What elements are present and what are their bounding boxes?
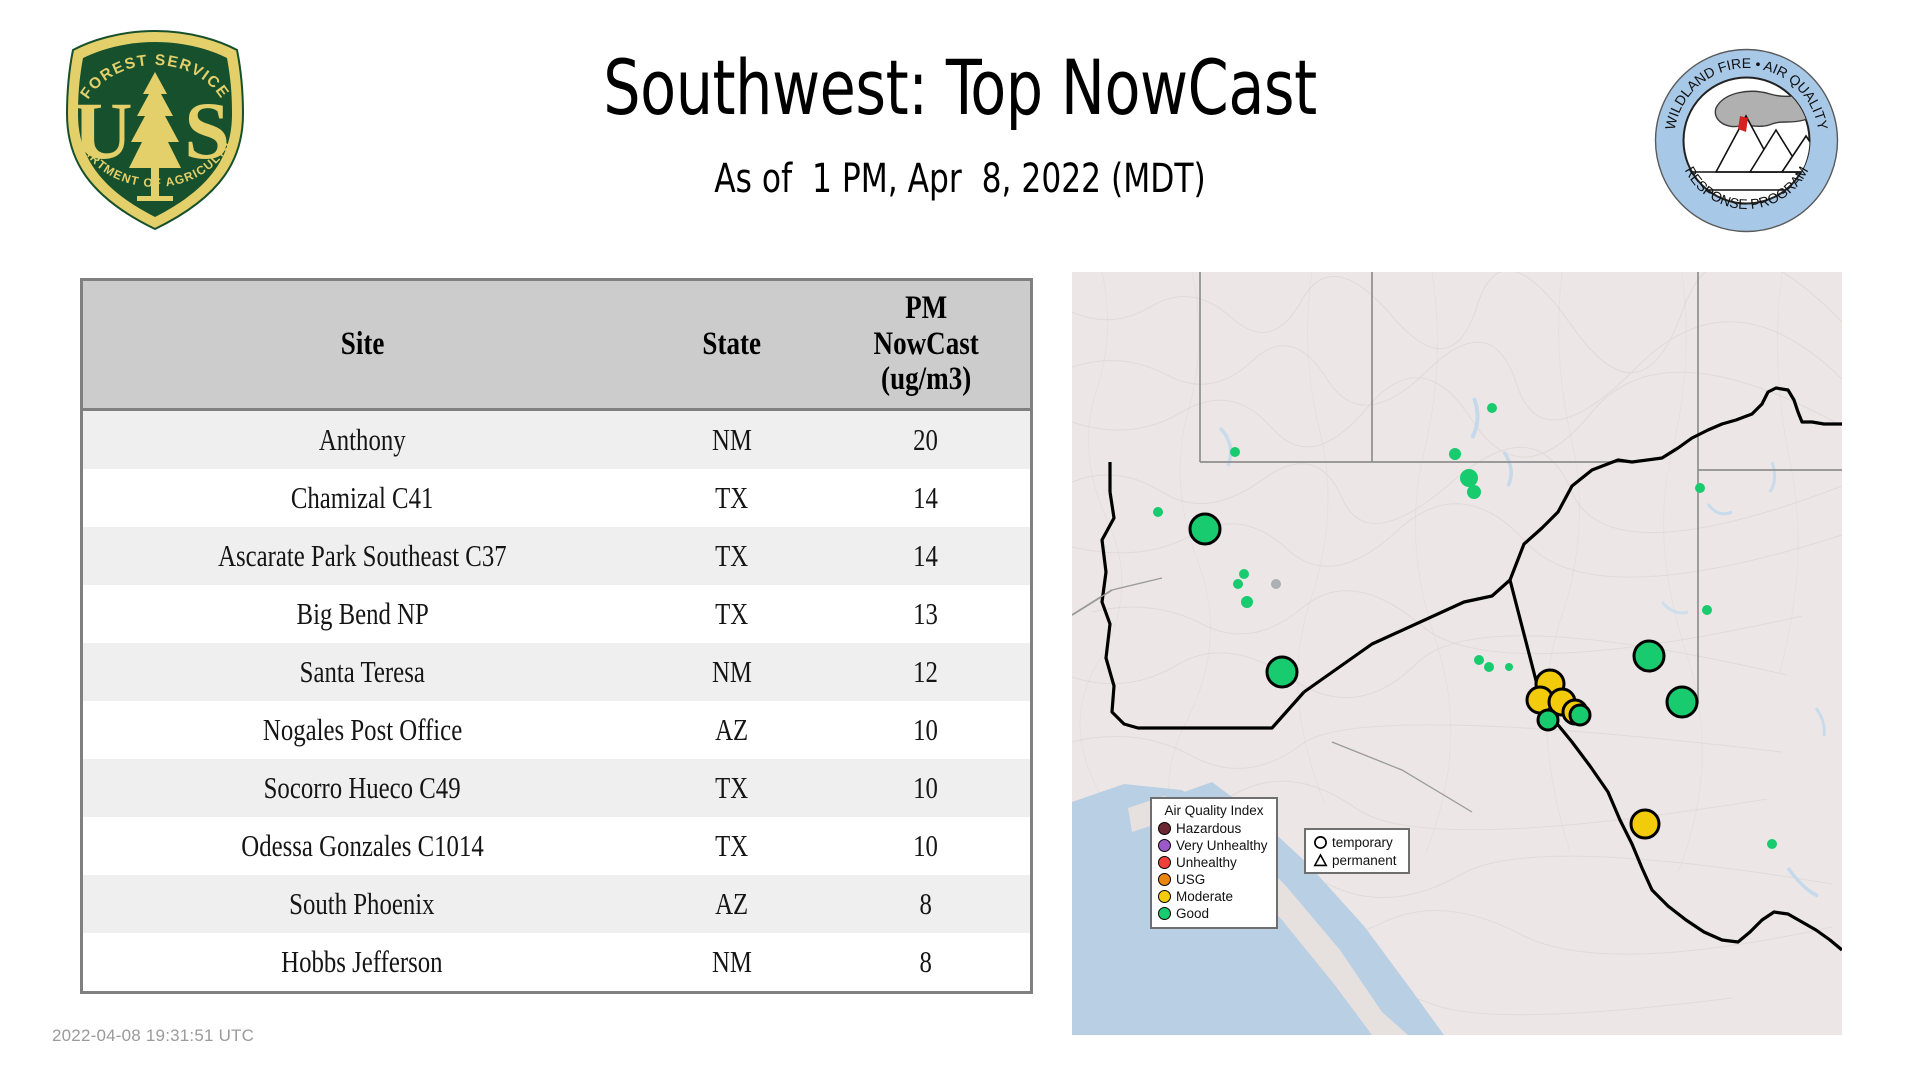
map-station-marker[interactable] (1153, 507, 1163, 517)
map-station-marker[interactable] (1267, 657, 1297, 687)
cell-pm-text: 10 (913, 770, 938, 806)
page-title: Southwest: Top NowCast (392, 50, 1527, 126)
aqi-legend-label: Unhealthy (1176, 855, 1237, 870)
table-row: Chamizal C41TX14 (82, 469, 1032, 527)
aqi-swatch-icon (1158, 873, 1171, 886)
cell-state: AZ (642, 701, 822, 759)
aqi-legend-row: Hazardous (1158, 820, 1270, 837)
cell-site: Nogales Post Office (82, 701, 642, 759)
aqi-legend-row: Unhealthy (1158, 854, 1270, 871)
map-station-marker[interactable] (1474, 655, 1484, 665)
cell-site-text: Socorro Hueco C49 (264, 770, 461, 806)
cell-pm-text: 14 (913, 538, 938, 574)
map-station-marker[interactable] (1631, 810, 1659, 838)
aqi-legend-label: Moderate (1176, 889, 1233, 904)
map-station-marker[interactable] (1271, 579, 1281, 589)
map-station-marker[interactable] (1538, 710, 1558, 730)
cell-state: NM (642, 409, 822, 469)
cell-state: NM (642, 933, 822, 993)
map-station-marker[interactable] (1239, 569, 1249, 579)
cell-state-text: TX (715, 828, 748, 864)
table-row: Hobbs JeffersonNM8 (82, 933, 1032, 993)
wfaqrp-logo: WILDLAND FIRE • AIR QUALITY RESPONSE PRO… (1654, 48, 1839, 233)
triangle-marker-icon (1311, 852, 1329, 868)
cell-state: TX (642, 759, 822, 817)
cell-site: South Phoenix (82, 875, 642, 933)
cell-pm: 8 (822, 933, 1032, 993)
aqi-legend-row: Good (1158, 905, 1270, 922)
cell-state: TX (642, 817, 822, 875)
cell-state: TX (642, 585, 822, 643)
cell-pm: 12 (822, 643, 1032, 701)
map-station-marker[interactable] (1233, 579, 1243, 589)
map-station-marker[interactable] (1467, 485, 1481, 499)
map-station-marker[interactable] (1767, 839, 1777, 849)
cell-pm: 14 (822, 469, 1032, 527)
cell-site-text: Hobbs Jefferson (282, 944, 443, 980)
title-block: Southwest: Top NowCast As of 1 PM, Apr 8… (300, 50, 1620, 202)
table-row: Ascarate Park Southeast C37TX14 (82, 527, 1032, 585)
cell-pm: 20 (822, 409, 1032, 469)
cell-site: Socorro Hueco C49 (82, 759, 642, 817)
cell-pm: 10 (822, 701, 1032, 759)
cell-site-text: Big Bend NP (296, 596, 428, 632)
table-row: Big Bend NPTX13 (82, 585, 1032, 643)
table-header-row: Site State PM NowCast (ug/m3) (82, 280, 1032, 410)
cell-site-text: Santa Teresa (300, 654, 425, 690)
legend-row-temporary: temporary (1311, 833, 1403, 851)
aqi-swatch-icon (1158, 839, 1171, 852)
aqi-legend-row: Moderate (1158, 888, 1270, 905)
legend-label-permanent: permanent (1332, 853, 1397, 868)
cell-site: Santa Teresa (82, 643, 642, 701)
aqi-legend-label: Good (1176, 906, 1209, 921)
air-quality-map[interactable]: Air Quality Index HazardousVery Unhealth… (1072, 272, 1842, 1035)
table-row: Santa TeresaNM12 (82, 643, 1032, 701)
map-station-marker[interactable] (1487, 403, 1497, 413)
cell-pm-text: 8 (920, 944, 932, 980)
cell-site: Hobbs Jefferson (82, 933, 642, 993)
cell-site: Odessa Gonzales C1014 (82, 817, 642, 875)
aqi-swatch-icon (1158, 822, 1171, 835)
cell-pm: 10 (822, 759, 1032, 817)
cell-pm: 14 (822, 527, 1032, 585)
cell-site: Chamizal C41 (82, 469, 642, 527)
aqi-swatch-icon (1158, 890, 1171, 903)
nowcast-table: Site State PM NowCast (ug/m3) AnthonyNM2… (80, 278, 1033, 994)
map-station-marker[interactable] (1449, 448, 1461, 460)
cell-pm-text: 13 (913, 596, 938, 632)
us-forest-service-logo: U S FOREST SERVICE DEPARTMENT OF AGRICUL… (55, 28, 255, 233)
map-station-marker[interactable] (1505, 663, 1513, 671)
cell-site-text: South Phoenix (290, 886, 435, 922)
table-row: South PhoenixAZ8 (82, 875, 1032, 933)
map-station-marker[interactable] (1241, 596, 1253, 608)
cell-pm: 8 (822, 875, 1032, 933)
column-header-state: State (642, 280, 822, 410)
cell-state-text: TX (715, 538, 748, 574)
cell-pm-text: 8 (920, 886, 932, 922)
cell-pm-text: 10 (913, 712, 938, 748)
cell-state-text: NM (712, 944, 752, 980)
page-header: U S FOREST SERVICE DEPARTMENT OF AGRICUL… (0, 0, 1920, 270)
cell-state: TX (642, 527, 822, 585)
map-station-marker[interactable] (1230, 447, 1240, 457)
cell-pm: 10 (822, 817, 1032, 875)
aqi-legend-label: Hazardous (1176, 821, 1241, 836)
cell-site-text: Ascarate Park Southeast C37 (218, 538, 507, 574)
cell-state-text: AZ (715, 712, 748, 748)
column-header-pm-nowcast: PM NowCast (ug/m3) (822, 280, 1032, 410)
map-station-marker[interactable] (1702, 605, 1712, 615)
aqi-legend: Air Quality Index HazardousVery Unhealth… (1150, 797, 1278, 929)
cell-state-text: NM (712, 654, 752, 690)
legend-label-temporary: temporary (1332, 835, 1393, 850)
circle-marker-icon (1311, 834, 1329, 850)
nowcast-table-container: Site State PM NowCast (ug/m3) AnthonyNM2… (80, 278, 1030, 994)
cell-state-text: TX (715, 596, 748, 632)
table-row: AnthonyNM20 (82, 409, 1032, 469)
cell-pm-text: 20 (913, 422, 938, 458)
table-row: Odessa Gonzales C1014TX10 (82, 817, 1032, 875)
table-row: Socorro Hueco C49TX10 (82, 759, 1032, 817)
cell-pm-text: 12 (913, 654, 938, 690)
cell-site-text: Anthony (319, 422, 406, 458)
map-station-marker[interactable] (1460, 469, 1478, 487)
cell-state: NM (642, 643, 822, 701)
column-header-site: Site (82, 280, 642, 410)
cell-pm-text: 10 (913, 828, 938, 864)
cell-site: Big Bend NP (82, 585, 642, 643)
cell-state: AZ (642, 875, 822, 933)
aqi-legend-label: Very Unhealthy (1176, 838, 1268, 853)
aqi-legend-row: Very Unhealthy (1158, 837, 1270, 854)
cell-site-text: Odessa Gonzales C1014 (241, 828, 483, 864)
footer-timestamp: 2022-04-08 19:31:51 UTC (52, 1026, 254, 1046)
cell-site-text: Nogales Post Office (263, 712, 462, 748)
map-station-marker[interactable] (1484, 662, 1494, 672)
legend-row-permanent: permanent (1311, 851, 1403, 869)
cell-state-text: TX (715, 770, 748, 806)
aqi-legend-label: USG (1176, 872, 1205, 887)
cell-state-text: AZ (715, 886, 748, 922)
cell-pm-text: 14 (913, 480, 938, 516)
cell-site: Ascarate Park Southeast C37 (82, 527, 642, 585)
cell-state-text: NM (712, 422, 752, 458)
page-subtitle: As of 1 PM, Apr 8, 2022 (MDT) (386, 156, 1534, 202)
marker-type-legend: temporary permanent (1304, 828, 1410, 874)
cell-site-text: Chamizal C41 (291, 480, 434, 516)
cell-state: TX (642, 469, 822, 527)
map-station-marker[interactable] (1634, 641, 1664, 671)
cell-pm: 13 (822, 585, 1032, 643)
map-station-marker[interactable] (1695, 483, 1705, 493)
map-station-marker[interactable] (1667, 687, 1697, 717)
aqi-swatch-icon (1158, 856, 1171, 869)
table-row: Nogales Post OfficeAZ10 (82, 701, 1032, 759)
cell-site: Anthony (82, 409, 642, 469)
aqi-legend-row: USG (1158, 871, 1270, 888)
aqi-legend-title: Air Quality Index (1158, 803, 1270, 818)
cell-state-text: TX (715, 480, 748, 516)
map-station-marker[interactable] (1570, 705, 1590, 725)
map-station-marker[interactable] (1190, 514, 1220, 544)
aqi-swatch-icon (1158, 907, 1171, 920)
